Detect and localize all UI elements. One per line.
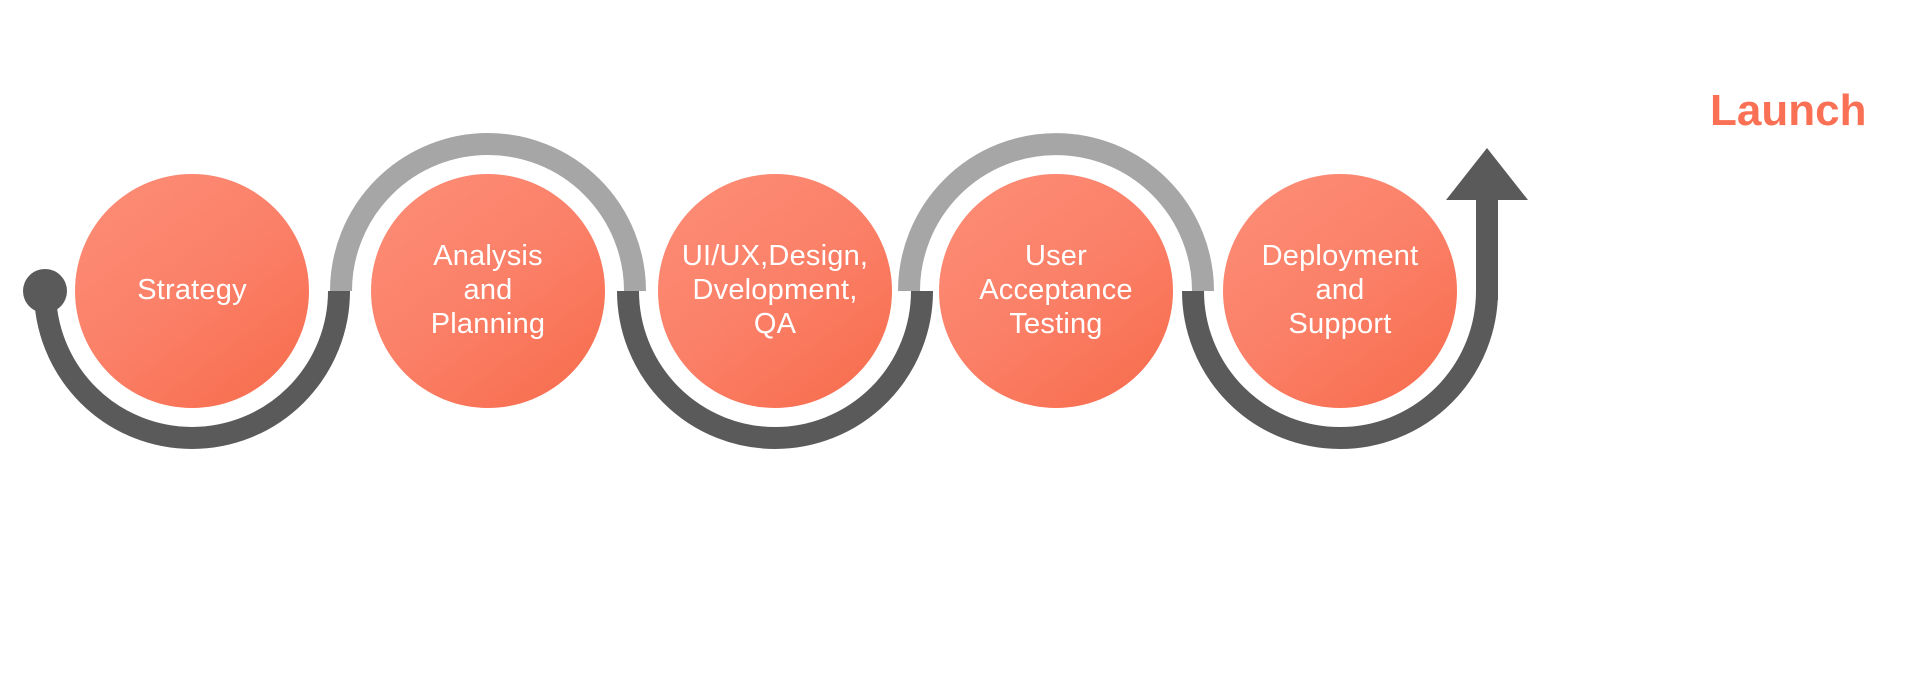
step-circle-uiux-design-development-qa[interactable] <box>658 174 892 408</box>
launch-arrow-icon <box>1446 148 1528 300</box>
diagram-canvas: Strategy Analysis and Planning UI/UX,Des… <box>0 0 1920 700</box>
start-dot-icon <box>23 269 67 313</box>
step-circle-user-acceptance-testing[interactable] <box>939 174 1173 408</box>
launch-label: Launch <box>1710 86 1866 136</box>
step-circle-deployment-and-support[interactable] <box>1223 174 1457 408</box>
step-circle-strategy[interactable] <box>75 174 309 408</box>
step-circle-group <box>75 174 1457 408</box>
process-flow-graphic <box>0 0 1920 700</box>
step-circle-analysis-and-planning[interactable] <box>371 174 605 408</box>
